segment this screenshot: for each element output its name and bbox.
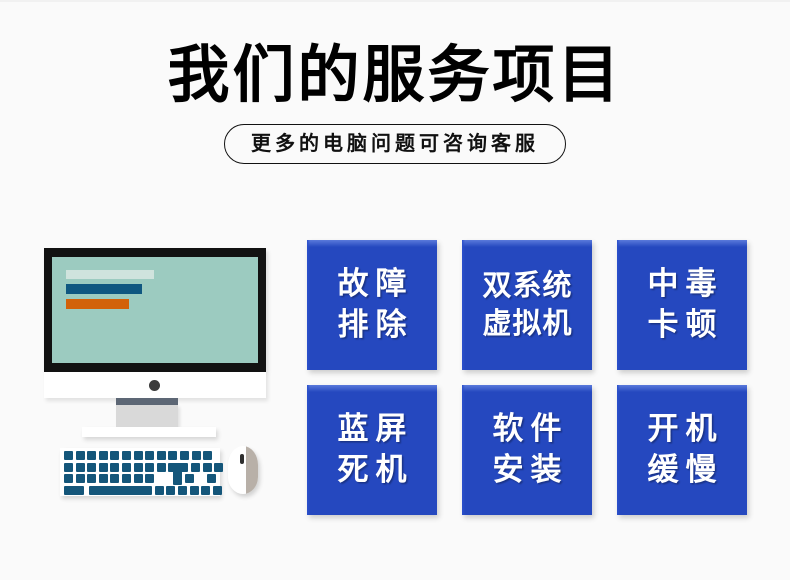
page-header: 我们的服务项目 更多的电脑问题可咨询客服 xyxy=(0,42,790,164)
monitor-stand-base xyxy=(82,427,216,437)
keyboard-row xyxy=(64,463,216,472)
mouse-scroll-wheel xyxy=(240,454,244,464)
card-line-1: 蓝屏 xyxy=(331,409,414,450)
monitor-stand-neck xyxy=(116,405,178,427)
subtitle-pill: 更多的电脑问题可咨询客服 xyxy=(224,124,566,164)
card-line-1: 双系统 xyxy=(481,267,572,305)
keyboard-enter-key xyxy=(173,463,182,485)
service-items-page: 我们的服务项目 更多的电脑问题可咨询客服 xyxy=(0,0,790,580)
top-hairline xyxy=(0,0,790,2)
mouse-body xyxy=(228,446,258,494)
monitor-stand-top xyxy=(116,398,178,405)
keyboard-icon xyxy=(60,448,220,496)
service-card-dual-system-vm[interactable]: 双系统 虚拟机 xyxy=(462,240,592,370)
service-card-virus-lag[interactable]: 中毒 卡顿 xyxy=(617,240,747,370)
monitor-indicator-dot xyxy=(149,380,160,391)
keyboard-row xyxy=(64,474,216,483)
card-line-2: 虚拟机 xyxy=(481,305,572,343)
screen-bar-orange xyxy=(66,299,129,309)
service-card-fault-troubleshooting[interactable]: 故障 排除 xyxy=(307,240,437,370)
desktop-computer-illustration xyxy=(38,248,288,503)
service-card-grid: 故障 排除 双系统 虚拟机 中毒 卡顿 蓝屏 死机 软件 安装 开机 缓慢 xyxy=(307,240,747,515)
card-line-2: 排除 xyxy=(331,305,414,346)
card-line-2: 卡顿 xyxy=(641,305,724,346)
page-title: 我们的服务项目 xyxy=(0,42,790,108)
monitor-screen xyxy=(52,257,258,363)
monitor-bezel xyxy=(44,248,266,372)
service-card-software-install[interactable]: 软件 安装 xyxy=(462,385,592,515)
mouse-shade xyxy=(246,446,258,494)
keyboard-row xyxy=(64,451,216,460)
card-line-1: 中毒 xyxy=(641,264,724,305)
mouse-icon xyxy=(228,446,258,494)
service-card-slow-boot[interactable]: 开机 缓慢 xyxy=(617,385,747,515)
card-line-1: 开机 xyxy=(641,409,724,450)
card-line-2: 缓慢 xyxy=(641,450,724,491)
service-card-bluescreen-crash[interactable]: 蓝屏 死机 xyxy=(307,385,437,515)
card-line-1: 故障 xyxy=(331,264,414,305)
monitor-chin xyxy=(44,372,266,398)
keyboard-row xyxy=(64,486,216,495)
card-line-2: 安装 xyxy=(486,450,569,491)
subtitle-container: 更多的电脑问题可咨询客服 xyxy=(0,124,790,164)
card-line-1: 软件 xyxy=(486,409,569,450)
screen-bar-blue xyxy=(66,284,142,294)
card-line-2: 死机 xyxy=(331,450,414,491)
screen-bar-light xyxy=(66,270,154,279)
